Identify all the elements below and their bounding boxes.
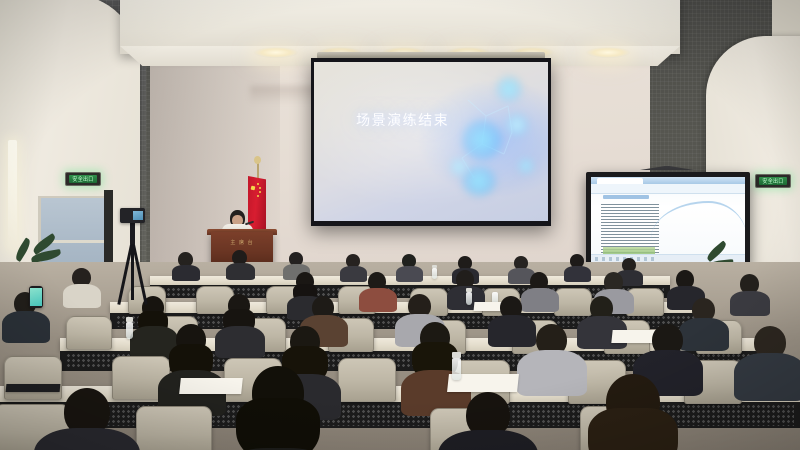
paper-sheet (611, 330, 656, 343)
flag-pole-finial (254, 156, 261, 164)
flag-star-large (251, 186, 256, 191)
chair (136, 406, 212, 450)
chair (554, 288, 592, 316)
phone-screen (30, 288, 42, 306)
water-bottle (432, 268, 437, 279)
app-curve-graphic (651, 201, 745, 239)
downlight (254, 47, 298, 58)
molecule-node (462, 120, 502, 160)
flag-star-small (259, 191, 261, 193)
exit-sign-panel: 安全出口 (759, 177, 787, 185)
flag-star-small (257, 195, 259, 197)
water-bottle (466, 292, 472, 305)
paper-sheet (179, 378, 243, 394)
app-data-table (601, 203, 659, 253)
ceiling-soffit (120, 0, 680, 54)
exit-sign-left: 安全出口 (65, 172, 101, 186)
exit-sign-panel: 安全出口 (69, 175, 97, 183)
molecule-node (506, 114, 528, 136)
lectern-plate-text: 主 席 台 (211, 239, 273, 246)
bottle-cap (466, 288, 472, 292)
app-toolbar (591, 184, 745, 194)
wall-strip-light (8, 140, 17, 250)
conference-hall-photo: 安全出口 安全出口 (0, 0, 800, 450)
room-interior: 安全出口 安全出口 (0, 0, 800, 450)
slide-title: 场景演练结束 (356, 110, 449, 130)
tripod-column (130, 222, 135, 244)
bottle-cap (432, 265, 437, 268)
flag-star-small (257, 183, 259, 185)
chair (338, 358, 396, 402)
flag-star-small (259, 187, 261, 189)
app-heading-line (603, 195, 649, 199)
exit-sign-label: 安全出口 (762, 177, 783, 185)
bottle-cap (452, 352, 461, 358)
water-bottle (126, 322, 133, 339)
molecule-node (518, 158, 534, 174)
exit-sign-label: 安全出口 (72, 175, 93, 183)
main-projection-screen[interactable]: 场景演练结束 (311, 58, 551, 226)
exit-sign-right: 安全出口 (755, 174, 791, 188)
downlight (586, 47, 630, 58)
tripod-leg (131, 240, 134, 300)
chair (4, 356, 62, 400)
bottle-cap (126, 317, 133, 322)
water-bottle (452, 358, 461, 380)
molecule-node (496, 76, 522, 102)
camera-screen (133, 211, 143, 220)
screen-surface: 场景演练结束 (314, 62, 548, 221)
chair (66, 316, 112, 350)
paper-sheet (6, 384, 61, 392)
molecule-node (450, 158, 468, 176)
